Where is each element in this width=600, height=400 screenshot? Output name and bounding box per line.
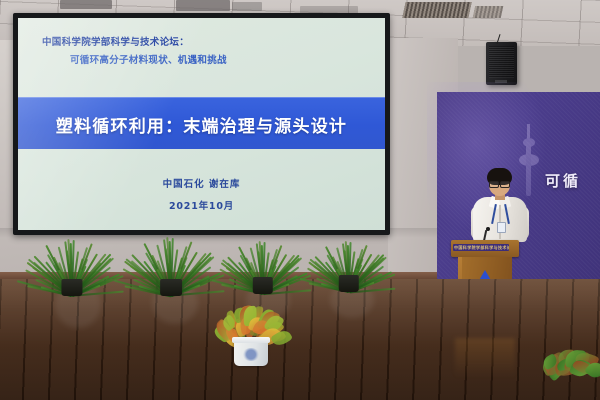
slide-header-line-2: 可循环高分子材料现状、机遇和挑战 [70, 52, 227, 66]
band-highlight [18, 97, 385, 98]
backdrop-text: 可循 [545, 170, 581, 191]
corner-plant [540, 336, 600, 400]
ceiling-light-panel [232, 2, 262, 11]
name-badge [497, 222, 506, 233]
porcelain-flower-pot [234, 340, 268, 366]
air-vent-grille [402, 2, 471, 18]
podium-top: 中国科学院学部科学与技术论坛 [451, 240, 519, 257]
potted-grass-plant [318, 240, 380, 292]
podium-banner: 中国科学院学部科学与技术论坛 [453, 244, 509, 251]
air-vent-grille [473, 6, 504, 18]
slide-presenter: 中国石化 谢在库 [18, 176, 385, 190]
plant-pot [339, 275, 359, 292]
podium-banner-text: 中国科学院学部科学与技术论坛 [454, 244, 509, 251]
loudspeaker-icon [486, 42, 517, 85]
glasses-icon [489, 181, 510, 186]
microphone-head [486, 227, 490, 231]
plant-pot [61, 279, 82, 296]
slide-header-line-1: 中国科学院学部科学与技术论坛： [42, 34, 189, 48]
slide-main-title: 塑料循环利用：末端治理与源头设计 [18, 112, 385, 137]
potted-grass-plant [138, 236, 204, 296]
podium-reflection [455, 338, 515, 378]
projection-screen-frame: 中国科学院学部科学与技术论坛： 可循环高分子材料现状、机遇和挑战 塑料循环利用：… [13, 13, 390, 235]
ceiling-light-panel [60, 0, 112, 9]
ceiling-light-panel [176, 0, 230, 11]
plant-pot [160, 279, 182, 296]
pot-blue-pattern [242, 348, 260, 361]
projected-slide: 中国科学院学部科学与技术论坛： 可循环高分子材料现状、机遇和挑战 塑料循环利用：… [18, 18, 385, 230]
potted-grass-plant [40, 238, 104, 296]
conference-photo-scene: 中国科学院学部科学与技术论坛： 可循环高分子材料现状、机遇和挑战 塑料循环利用：… [0, 0, 600, 400]
foreground-croton-plant [212, 286, 290, 364]
slide-date: 2021年10月 [18, 198, 385, 212]
